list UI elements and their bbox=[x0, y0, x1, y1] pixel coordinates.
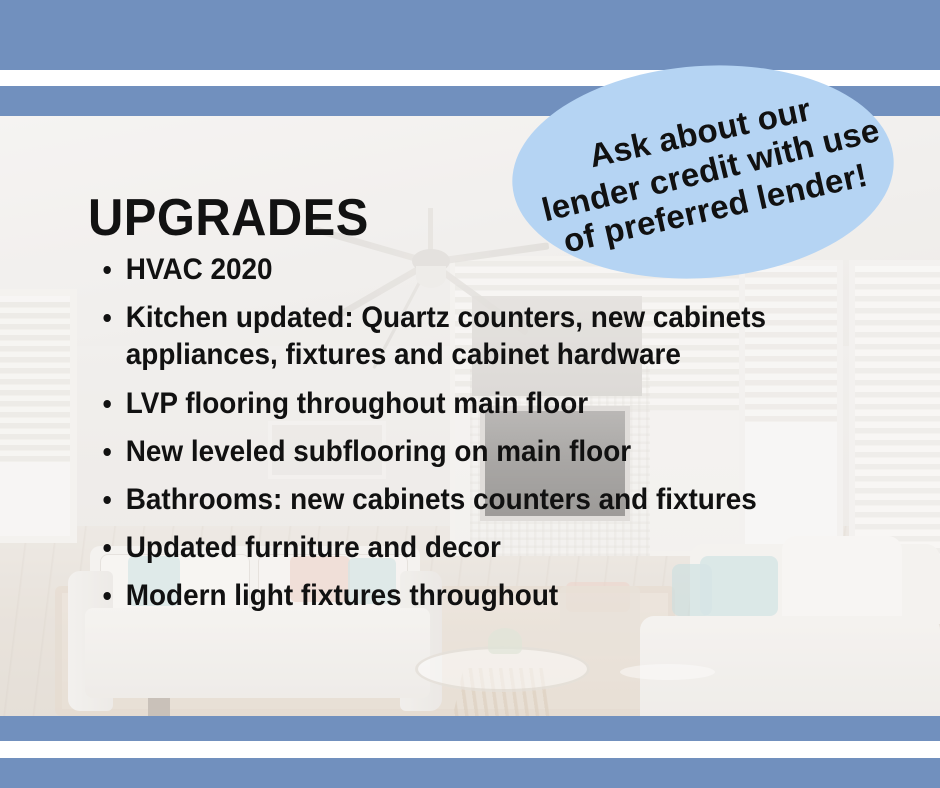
badge-text-block: Ask about our lender credit with use of … bbox=[529, 78, 877, 265]
list-item: Modern light fixtures throughout bbox=[96, 577, 849, 614]
list-item: New leveled subflooring on main floor bbox=[96, 433, 849, 470]
page-title: UPGRADES bbox=[88, 188, 369, 248]
upgrades-list: HVAC 2020 Kitchen updated: Quartz counte… bbox=[96, 251, 906, 626]
upgrades-flyer: UPGRADES HVAC 2020 Kitchen updated: Quar… bbox=[0, 0, 940, 788]
bottom-blue-bar-upper bbox=[0, 716, 940, 741]
bottom-blue-bar-lower bbox=[0, 758, 940, 788]
list-item: Bathrooms: new cabinets counters and fix… bbox=[96, 481, 849, 518]
list-item: LVP flooring throughout main floor bbox=[96, 385, 849, 422]
list-item: Kitchen updated: Quartz counters, new ca… bbox=[96, 299, 849, 373]
list-item: Updated furniture and decor bbox=[96, 529, 849, 566]
top-blue-bar-upper bbox=[0, 0, 940, 70]
